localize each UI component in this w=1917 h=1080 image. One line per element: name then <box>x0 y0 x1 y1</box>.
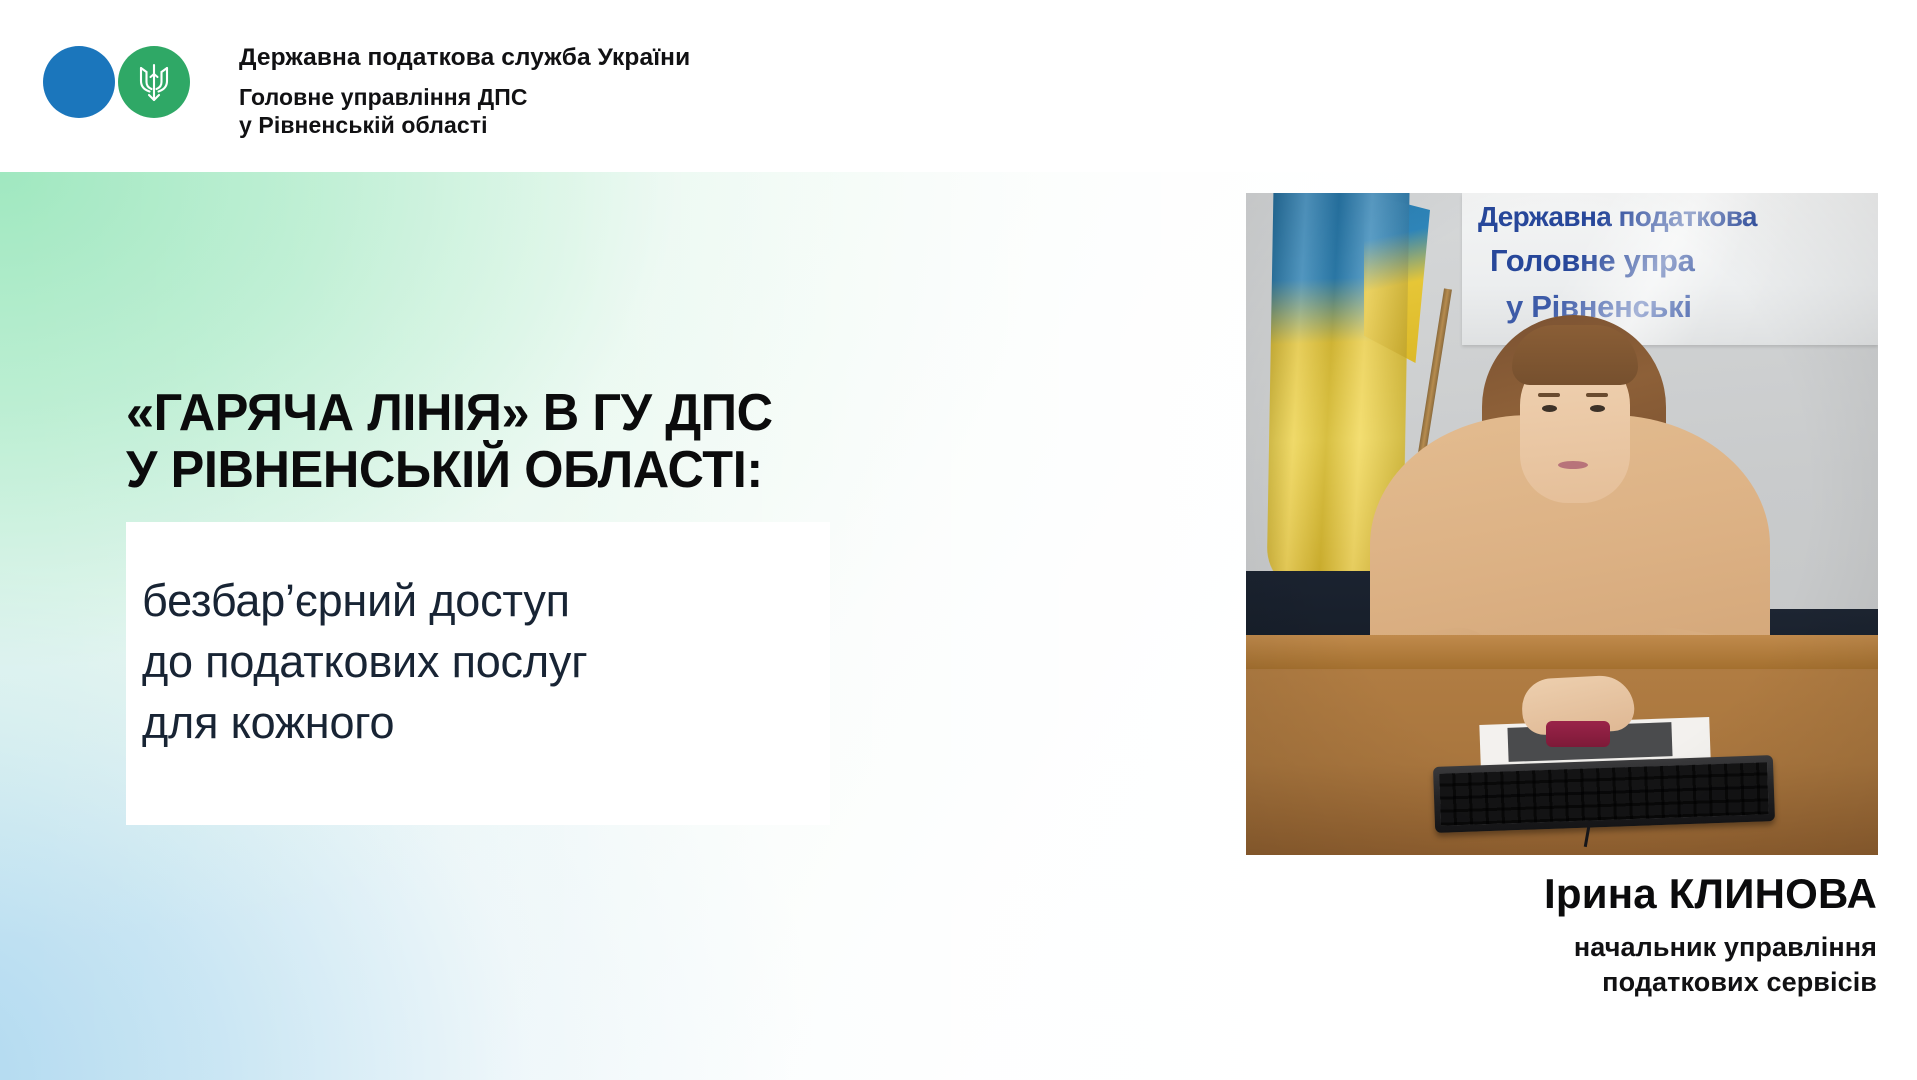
subtitle-card: безбар’єрний доступ до податкових послуг… <box>126 522 830 825</box>
photo-person-fringe <box>1512 325 1638 385</box>
photo-desk-edge <box>1246 635 1878 669</box>
speaker-photo: Державна податкова Головне упра у Рівнен… <box>1246 193 1878 855</box>
page-title: «ГАРЯЧА ЛІНІЯ» В ГУ ДПС У РІВНЕНСЬКІЙ ОБ… <box>126 385 1066 498</box>
subtitle-line-2: до податкових послуг <box>142 631 822 692</box>
photo-keyboard-keys <box>1439 762 1769 825</box>
photo-person-eye-left <box>1542 405 1557 412</box>
header-line-3: у Рівненській області <box>239 111 999 139</box>
speaker-role: начальник управління податкових сервісів <box>1117 930 1877 1000</box>
ukraine-trident-icon <box>118 46 190 118</box>
speaker-role-line-1: начальник управління <box>1117 930 1877 965</box>
photo-phone <box>1546 721 1610 747</box>
photo-keyboard <box>1433 755 1775 833</box>
photo-person-brow-right <box>1586 393 1608 397</box>
subtitle-text-block: безбар’єрний доступ до податкових послуг… <box>142 570 822 754</box>
photo-sign-glare <box>1462 193 1878 345</box>
header-band: Державна податкова служба України Головн… <box>0 0 1917 172</box>
subtitle-line-1: безбар’єрний доступ <box>142 570 822 631</box>
photo-person-mouth <box>1558 461 1588 469</box>
page-title-line-1: «ГАРЯЧА ЛІНІЯ» В ГУ ДПС <box>126 385 1038 442</box>
header-line-2: Головне управління ДПС <box>239 83 999 111</box>
dps-blue-circle-icon <box>43 46 115 118</box>
photo-wall-signboard: Державна податкова Головне упра у Рівнен… <box>1462 193 1878 345</box>
speaker-name: Ірина КЛИНОВА <box>1117 870 1877 918</box>
subtitle-line-3: для кожного <box>142 692 822 753</box>
photo-person-brow-left <box>1538 393 1560 397</box>
speaker-caption: Ірина КЛИНОВА начальник управління подат… <box>1117 870 1877 1000</box>
photo-person-eye-right <box>1590 405 1605 412</box>
header-text-block: Державна податкова служба України Головн… <box>239 44 999 140</box>
page-title-line-2: У РІВНЕНСЬКІЙ ОБЛАСТІ: <box>126 442 1038 499</box>
slide-root: Державна податкова служба України Головн… <box>0 0 1917 1080</box>
speaker-role-line-2: податкових сервісів <box>1117 965 1877 1000</box>
header-line-1: Державна податкова служба України <box>239 44 999 71</box>
dps-logo <box>43 46 193 118</box>
